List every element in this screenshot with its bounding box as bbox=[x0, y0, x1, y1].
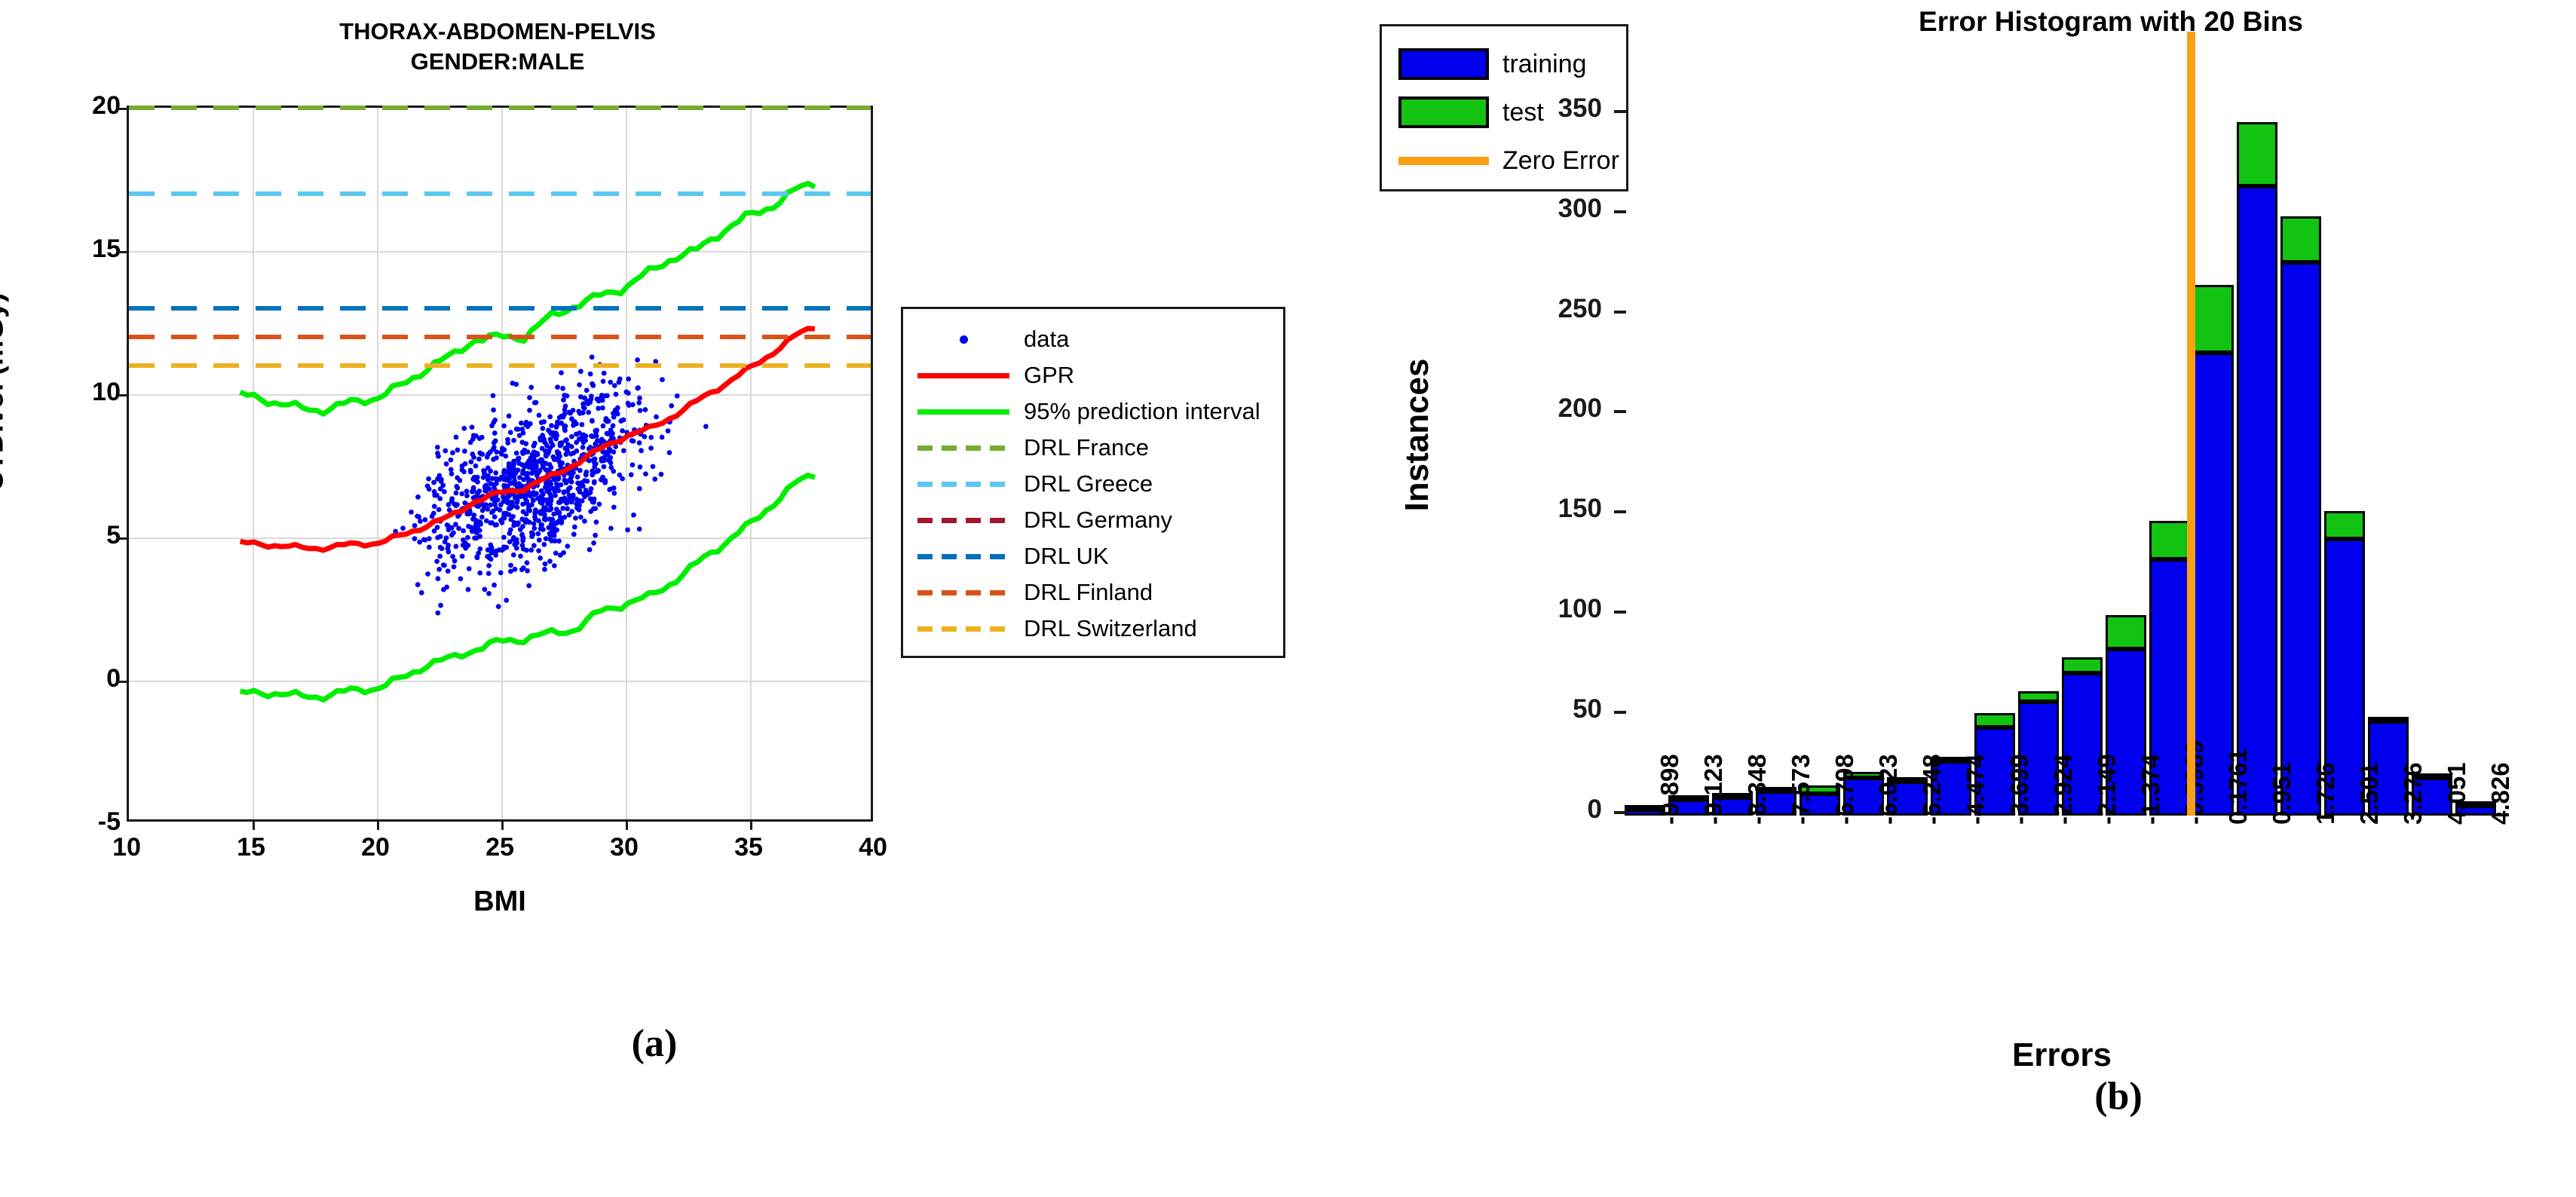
tickmark-y-0 bbox=[118, 681, 129, 683]
panel-b-ytick-label: 250 bbox=[1489, 294, 1602, 324]
histogram-bar bbox=[2237, 122, 2277, 816]
histogram-bar-test-segment bbox=[2280, 216, 2320, 262]
drl-line-finland bbox=[129, 335, 871, 339]
histogram-bar-test-segment bbox=[2237, 122, 2277, 186]
legend-label-drl-switzerland: DRL Switzerland bbox=[1024, 615, 1197, 642]
histogram-bar bbox=[2193, 285, 2233, 816]
legend-item-drl-uk[interactable]: DRL UK bbox=[903, 538, 1283, 574]
panel-a-ytick-10: 10 bbox=[30, 378, 121, 407]
legend-line-zero-error-icon bbox=[1398, 157, 1489, 165]
tickmark-y-20 bbox=[118, 108, 129, 110]
panel-b-histogram: Error Histogram with 20 Bins Instances E… bbox=[1327, 0, 2576, 1197]
panel-b-xtick-label: -9.898 bbox=[1656, 754, 1684, 825]
legend-marker-drl-france-icon bbox=[903, 445, 1024, 451]
panel-a-xtick-40: 40 bbox=[828, 833, 918, 862]
panel-b-ytick-mark bbox=[1614, 611, 1626, 614]
panel-a-legend: data GPR 95% prediction interval DRL Fra… bbox=[901, 307, 1285, 658]
panel-b-xtick-label: -3.699 bbox=[2005, 754, 2034, 825]
panel-b-xtick-label: -5.248 bbox=[1918, 754, 1947, 825]
legend-item-gpr[interactable]: GPR bbox=[903, 357, 1283, 393]
panel-b-xtick-label: -2.924 bbox=[2049, 754, 2078, 825]
panel-b-xtick-label: -4.474 bbox=[1962, 754, 1990, 825]
histogram-bar-test-segment bbox=[2324, 511, 2364, 539]
histogram-bar-test-segment bbox=[2062, 657, 2102, 673]
legend-marker-drl-uk-icon bbox=[903, 554, 1024, 559]
legend-label-gpr: GPR bbox=[1024, 362, 1074, 389]
legend-marker-drl-finland-icon bbox=[903, 590, 1024, 595]
panel-b-ytick-mark bbox=[1614, 311, 1626, 314]
legend-item-prediction-interval[interactable]: 95% prediction interval bbox=[903, 393, 1283, 430]
panel-a-y-axis-label: CTDIvol (mGy) bbox=[0, 292, 11, 491]
panel-a-data-layer bbox=[129, 108, 871, 819]
panel-b-xtick-label: 4.051 bbox=[2443, 762, 2471, 825]
panel-a-title-line1: THORAX-ABDOMEN-PELVIS bbox=[286, 17, 709, 47]
drl-line-greece bbox=[129, 191, 871, 196]
panel-b-ytick-label: 50 bbox=[1489, 694, 1602, 724]
legend-marker-drl-germany-icon bbox=[903, 518, 1024, 523]
histogram-bar-test-segment bbox=[2106, 615, 2146, 649]
panel-b-xtick-label: -8.348 bbox=[1743, 754, 1772, 825]
panel-b-ytick-label: 100 bbox=[1489, 594, 1602, 624]
panel-a-xtick-20: 20 bbox=[330, 833, 421, 862]
legend-marker-prediction-interval-icon bbox=[903, 409, 1024, 415]
legend-item-drl-finland[interactable]: DRL Finland bbox=[903, 574, 1283, 611]
panel-b-ytick-mark bbox=[1614, 811, 1626, 814]
panel-a-ytick-15: 15 bbox=[30, 234, 121, 264]
panel-a-ytick-5: 5 bbox=[30, 521, 121, 550]
panel-a-xtick-15: 15 bbox=[206, 833, 296, 862]
panel-b-xtick-label: -2.149 bbox=[2093, 754, 2121, 825]
zero-error-line bbox=[2187, 32, 2195, 816]
panel-b-ytick-mark bbox=[1614, 510, 1626, 513]
panel-b-ytick-mark bbox=[1614, 711, 1626, 714]
legend-item-zero-error[interactable]: Zero Error bbox=[1398, 136, 1626, 185]
panel-b-xtick-label: 1.726 bbox=[2311, 762, 2340, 825]
panel-b-xtick-label: -6.023 bbox=[1874, 754, 1903, 825]
panel-b-xtick-label: 4.826 bbox=[2486, 762, 2515, 825]
tickmark-y-5 bbox=[118, 537, 129, 540]
panel-b-xtick-label: -1.374 bbox=[2136, 754, 2165, 825]
panel-b-ytick-label: 0 bbox=[1489, 794, 1602, 825]
legend-item-data[interactable]: data bbox=[903, 321, 1283, 357]
legend-label-data: data bbox=[1024, 326, 1069, 353]
panel-b-xtick-label: -6.798 bbox=[1830, 754, 1859, 825]
panel-a-xtick-35: 35 bbox=[703, 833, 794, 862]
histogram-bar-test-segment bbox=[1974, 713, 2014, 727]
tickmark-x-25 bbox=[501, 819, 504, 830]
panel-b-caption: (b) bbox=[2094, 1074, 2143, 1119]
histogram-bar-test-segment bbox=[2149, 521, 2189, 559]
tickmark-y-15 bbox=[118, 251, 129, 253]
histogram-bar-test-segment bbox=[2018, 691, 2058, 701]
legend-marker-data-icon bbox=[903, 335, 1024, 344]
panel-b-ytick-mark bbox=[1614, 110, 1626, 113]
tickmark-y-10 bbox=[118, 394, 129, 396]
panel-b-x-axis-label: Errors bbox=[2012, 1036, 2112, 1074]
panel-b-y-axis-label: Instances bbox=[1398, 359, 1436, 512]
panel-a-plot-area bbox=[127, 106, 873, 822]
histogram-bar-test-segment bbox=[2193, 285, 2233, 353]
tickmark-x-35 bbox=[750, 819, 752, 830]
legend-label-drl-greece: DRL Greece bbox=[1024, 470, 1153, 497]
panel-b-xtick-label: -7.573 bbox=[1787, 754, 1815, 825]
tickmark-x-30 bbox=[626, 819, 628, 830]
panel-b-ytick-mark bbox=[1614, 210, 1626, 213]
panel-a-title: THORAX-ABDOMEN-PELVIS GENDER:MALE bbox=[286, 17, 709, 77]
legend-label-prediction-interval: 95% prediction interval bbox=[1024, 398, 1260, 425]
panel-b-ytick-mark bbox=[1614, 410, 1626, 413]
panel-b-ytick-label: 150 bbox=[1489, 494, 1602, 524]
panel-b-xtick-label: 3.276 bbox=[2399, 762, 2427, 825]
panel-b-ytick-label: 350 bbox=[1489, 93, 1602, 124]
panel-b-ytick-label: 300 bbox=[1489, 194, 1602, 224]
panel-b-xtick-label: 0.951 bbox=[2268, 762, 2296, 825]
tickmark-x-15 bbox=[253, 819, 255, 830]
panel-a-title-line2: GENDER:MALE bbox=[286, 47, 709, 77]
legend-swatch-test-icon bbox=[1398, 96, 1489, 128]
legend-label-drl-finland: DRL Finland bbox=[1024, 579, 1153, 606]
panel-a-scatter: THORAX-ABDOMEN-PELVIS GENDER:MALE CTDIvo… bbox=[0, 0, 1327, 1197]
panel-b-xtick-label: 0.1761 bbox=[2224, 749, 2253, 825]
legend-label-drl-france: DRL France bbox=[1024, 434, 1149, 461]
drl-line-uk bbox=[129, 306, 871, 311]
legend-marker-drl-switzerland-icon bbox=[903, 626, 1024, 632]
histogram-bar-test-segment bbox=[2368, 717, 2408, 721]
panel-b-xtick-label: 2.501 bbox=[2355, 762, 2384, 825]
legend-marker-gpr-icon bbox=[903, 373, 1024, 378]
legend-swatch-training-icon bbox=[1398, 48, 1489, 80]
legend-item-drl-greece[interactable]: DRL Greece bbox=[903, 466, 1283, 502]
panel-b-ytick-label: 200 bbox=[1489, 393, 1602, 424]
legend-item-drl-germany[interactable]: DRL Germany bbox=[903, 502, 1283, 538]
histogram-bar-training-segment bbox=[2280, 262, 2320, 816]
tickmark-x-20 bbox=[377, 819, 379, 830]
panel-a-ytick-0: 0 bbox=[30, 664, 121, 693]
legend-label-drl-germany: DRL Germany bbox=[1024, 507, 1172, 534]
legend-item-drl-switzerland[interactable]: DRL Switzerland bbox=[903, 611, 1283, 647]
panel-a-xtick-25: 25 bbox=[455, 833, 545, 862]
panel-a-ytick-20: 20 bbox=[30, 91, 121, 121]
panel-b-title: Error Histogram with 20 Bins bbox=[1919, 6, 2303, 38]
panel-a-xtick-30: 30 bbox=[579, 833, 669, 862]
legend-marker-drl-greece-icon bbox=[903, 482, 1024, 487]
legend-label-training: training bbox=[1502, 50, 1587, 79]
drl-line-france bbox=[129, 106, 871, 110]
panel-b-xtick-label: -9.123 bbox=[1699, 754, 1728, 825]
legend-label-zero-error: Zero Error bbox=[1502, 146, 1619, 176]
panel-a-x-axis-label: BMI bbox=[473, 886, 526, 918]
histogram-bar bbox=[2280, 216, 2320, 816]
legend-item-drl-france[interactable]: DRL France bbox=[903, 430, 1283, 466]
panel-a-xtick-10: 10 bbox=[81, 833, 172, 862]
drl-line-switzerland bbox=[129, 363, 871, 368]
legend-label-drl-uk: DRL UK bbox=[1024, 543, 1109, 570]
histogram-bar-training-segment bbox=[2237, 186, 2277, 816]
panel-b-plot-area bbox=[1623, 54, 2498, 816]
panel-a-caption: (a) bbox=[632, 1021, 678, 1066]
legend-item-training[interactable]: training bbox=[1398, 40, 1626, 88]
